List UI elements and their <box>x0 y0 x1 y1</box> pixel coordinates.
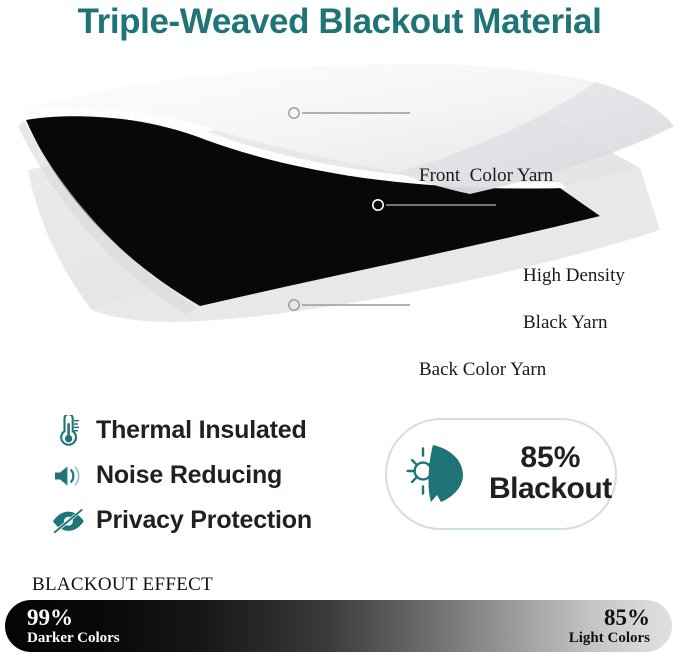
feature-label-thermal-insulated: Thermal Insulated <box>96 416 307 445</box>
light-colors-percent: 85% <box>569 606 650 630</box>
thermometer-icon <box>48 415 88 447</box>
fabric-layers-diagram: Front Color Yarn High Density Black Yarn… <box>0 60 679 360</box>
feature-list: Thermal Insulated Noise Reducing Privacy… <box>48 408 368 543</box>
darker-colors-percent: 99% <box>27 606 120 630</box>
feature-item-privacy-protection: Privacy Protection <box>48 498 368 543</box>
blackout-effect-title: BLACKOUT EFFECT <box>32 574 213 596</box>
eye-slash-icon <box>48 507 88 535</box>
blackout-percent: 85% <box>489 443 612 474</box>
light-colors-group: 85% Light Colors <box>569 606 650 647</box>
page-title: Triple-Weaved Blackout Material <box>0 2 679 42</box>
darker-colors-caption: Darker Colors <box>27 631 120 647</box>
label-high-density-black-yarn: High Density Black Yarn <box>504 240 625 359</box>
feature-label-privacy-protection: Privacy Protection <box>96 506 312 535</box>
speaker-icon <box>48 462 88 490</box>
feature-label-noise-reducing: Noise Reducing <box>96 461 282 490</box>
blackout-word: Blackout <box>489 474 612 505</box>
light-colors-caption: Light Colors <box>569 631 650 647</box>
blackout-badge-text: 85% Blackout <box>489 443 612 504</box>
sun-blocked-icon <box>403 437 475 511</box>
blackout-effect-gradient-bar: 99% Darker Colors 85% Light Colors <box>5 600 672 652</box>
label-front-color-yarn: Front Color Yarn <box>419 164 553 188</box>
feature-item-noise-reducing: Noise Reducing <box>48 453 368 498</box>
blackout-badge: 85% Blackout <box>385 418 617 530</box>
label-high-density-line-1: High Density <box>523 265 625 286</box>
label-high-density-line-2: Black Yarn <box>523 312 607 333</box>
label-back-color-yarn: Back Color Yarn <box>419 358 546 382</box>
feature-item-thermal-insulated: Thermal Insulated <box>48 408 368 453</box>
darker-colors-group: 99% Darker Colors <box>27 606 120 647</box>
